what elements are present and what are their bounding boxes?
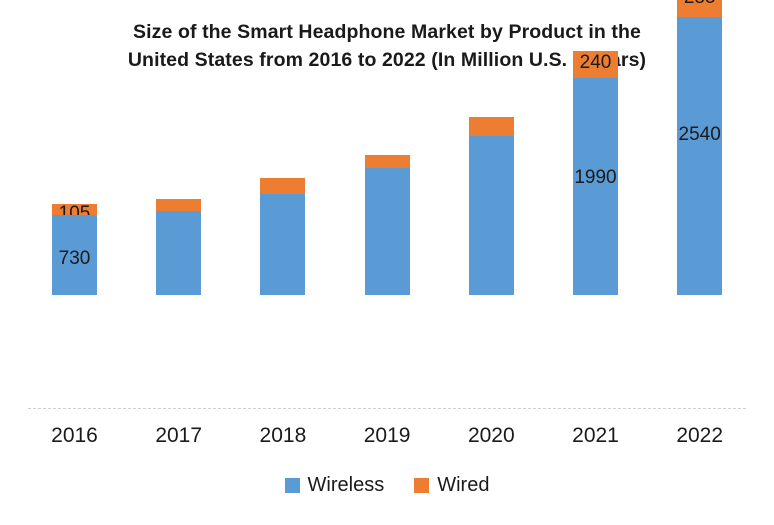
bar-group-2020[interactable]: [469, 117, 514, 295]
bar-segment-wireless-2017[interactable]: [156, 211, 201, 295]
bar-segment-wired-2019[interactable]: [365, 155, 410, 168]
bar-segment-wired-2022[interactable]: 285: [677, 0, 722, 17]
legend-item-wired[interactable]: Wired: [414, 474, 489, 496]
legend-swatch-wired-icon: [414, 478, 429, 493]
legend-label-wireless: Wireless: [308, 474, 385, 496]
x-axis-tick-2016: 2016: [35, 424, 115, 448]
x-axis-tick-2021: 2021: [556, 424, 636, 448]
value-label-wireless-2021: 1990: [574, 168, 616, 188]
value-label-wired-2022: 285: [684, 0, 716, 8]
bar-segment-wireless-2019[interactable]: [365, 168, 410, 295]
chart-container: Size of the Smart Headphone Market by Pr…: [0, 0, 774, 525]
bar-segment-wireless-2018[interactable]: [260, 194, 305, 295]
bar-segment-wireless-2016[interactable]: 730: [52, 215, 97, 295]
bar-segment-wired-2018[interactable]: [260, 178, 305, 194]
x-axis-labels: 2016201720182019202020212022: [0, 420, 774, 460]
bar-group-2019[interactable]: [365, 155, 410, 295]
x-axis-baseline: [28, 408, 746, 409]
value-label-wired-2021: 240: [580, 53, 612, 73]
bar-group-2018[interactable]: [260, 178, 305, 295]
plot-area: 10573024019902852540: [0, 0, 774, 412]
bar-group-2021[interactable]: 2401990: [573, 51, 618, 295]
bar-group-2016[interactable]: 105730: [52, 204, 97, 295]
legend-item-wireless[interactable]: Wireless: [285, 474, 385, 496]
bar-segment-wired-2017[interactable]: [156, 199, 201, 211]
x-axis-tick-2017: 2017: [139, 424, 219, 448]
bar-segment-wireless-2022[interactable]: 2540: [677, 17, 722, 295]
bar-group-2017[interactable]: [156, 199, 201, 295]
bar-segment-wired-2016[interactable]: 105: [52, 204, 97, 215]
bar-segment-wireless-2021[interactable]: 1990: [573, 78, 618, 296]
value-label-wireless-2022: 2540: [679, 125, 721, 145]
bar-segment-wired-2020[interactable]: [469, 117, 514, 136]
chart-legend: Wireless Wired: [0, 474, 774, 496]
x-axis-tick-2020: 2020: [451, 424, 531, 448]
x-axis-tick-2022: 2022: [660, 424, 740, 448]
x-axis-tick-2019: 2019: [347, 424, 427, 448]
legend-swatch-wireless-icon: [285, 478, 300, 493]
bar-segment-wired-2021[interactable]: 240: [573, 51, 618, 77]
bar-segment-wireless-2020[interactable]: [469, 136, 514, 295]
x-axis-tick-2018: 2018: [243, 424, 323, 448]
legend-label-wired: Wired: [437, 474, 489, 496]
value-label-wireless-2016: 730: [59, 249, 91, 269]
bar-group-2022[interactable]: 2852540: [677, 0, 722, 295]
